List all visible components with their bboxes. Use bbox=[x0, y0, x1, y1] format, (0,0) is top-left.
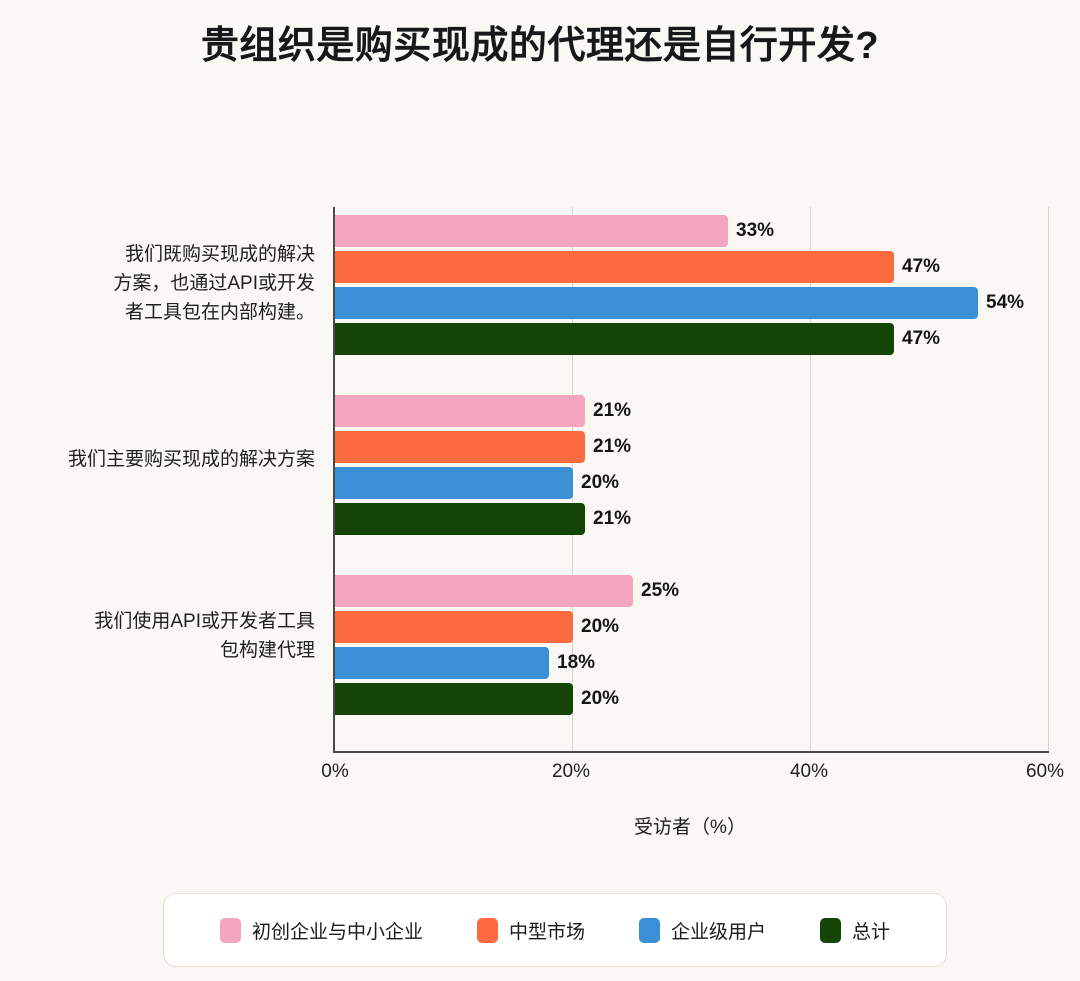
legend-swatch-icon-3 bbox=[820, 918, 841, 943]
legend-swatch-icon-2 bbox=[639, 918, 660, 943]
bar-value-g0-s0: 33% bbox=[736, 220, 774, 242]
legend-swatch-icon-0 bbox=[220, 918, 241, 943]
xtick-1: 20% bbox=[552, 761, 590, 783]
bar-value-g2-s0: 25% bbox=[641, 580, 679, 602]
bar-g1-s0[interactable] bbox=[335, 395, 585, 427]
bar-g1-s3[interactable] bbox=[335, 503, 585, 535]
legend-item-3[interactable]: 总计 bbox=[820, 917, 890, 944]
bar-value-g2-s2: 18% bbox=[557, 652, 595, 674]
plot-area: 33% 47% 54% 47% 21% 21% 20% 21% 25% 20% … bbox=[333, 207, 1049, 753]
bar-value-g1-s1: 21% bbox=[593, 436, 631, 458]
bar-value-g0-s1: 47% bbox=[902, 256, 940, 278]
bar-value-g0-s2: 54% bbox=[986, 292, 1024, 314]
bar-g0-s2[interactable] bbox=[335, 287, 978, 319]
legend-swatch-icon-1 bbox=[477, 918, 498, 943]
category-label-0: 我们既购买现成的解决 方案，也通过API或开发 者工具包在内部构建。 bbox=[10, 240, 315, 327]
category-label-1: 我们主要购买现成的解决方案 bbox=[10, 445, 315, 474]
legend-item-1[interactable]: 中型市场 bbox=[477, 917, 585, 944]
bar-g2-s2[interactable] bbox=[335, 647, 549, 679]
bar-value-g1-s3: 21% bbox=[593, 508, 631, 530]
legend-label-2: 企业级用户 bbox=[671, 917, 766, 944]
xtick-3: 60% bbox=[1026, 761, 1064, 783]
category-label-2: 我们使用API或开发者工具 包构建代理 bbox=[10, 607, 315, 665]
bar-g2-s1[interactable] bbox=[335, 611, 573, 643]
bar-value-g0-s3: 47% bbox=[902, 328, 940, 350]
bar-value-g1-s0: 21% bbox=[593, 400, 631, 422]
legend: 初创企业与中小企业 中型市场 企业级用户 总计 bbox=[163, 893, 947, 967]
bar-g0-s1[interactable] bbox=[335, 251, 894, 283]
xtick-2: 40% bbox=[790, 761, 828, 783]
bar-g0-s3[interactable] bbox=[335, 323, 894, 355]
legend-item-2[interactable]: 企业级用户 bbox=[639, 917, 766, 944]
bar-g1-s2[interactable] bbox=[335, 467, 573, 499]
bar-value-g1-s2: 20% bbox=[581, 472, 619, 494]
xtick-0: 0% bbox=[321, 761, 348, 783]
page-title: 贵组织是购买现成的代理还是自行开发? bbox=[0, 14, 1080, 69]
legend-label-3: 总计 bbox=[852, 917, 890, 944]
bar-value-g2-s1: 20% bbox=[581, 616, 619, 638]
legend-item-0[interactable]: 初创企业与中小企业 bbox=[220, 917, 423, 944]
bar-g1-s1[interactable] bbox=[335, 431, 585, 463]
gridline-60 bbox=[1048, 207, 1049, 751]
x-axis-title: 受访者（%） bbox=[333, 812, 1047, 839]
bar-g2-s3[interactable] bbox=[335, 683, 573, 715]
legend-label-0: 初创企业与中小企业 bbox=[252, 917, 423, 944]
bar-g0-s0[interactable] bbox=[335, 215, 728, 247]
bar-g2-s0[interactable] bbox=[335, 575, 633, 607]
legend-label-1: 中型市场 bbox=[509, 917, 585, 944]
bar-value-g2-s3: 20% bbox=[581, 688, 619, 710]
